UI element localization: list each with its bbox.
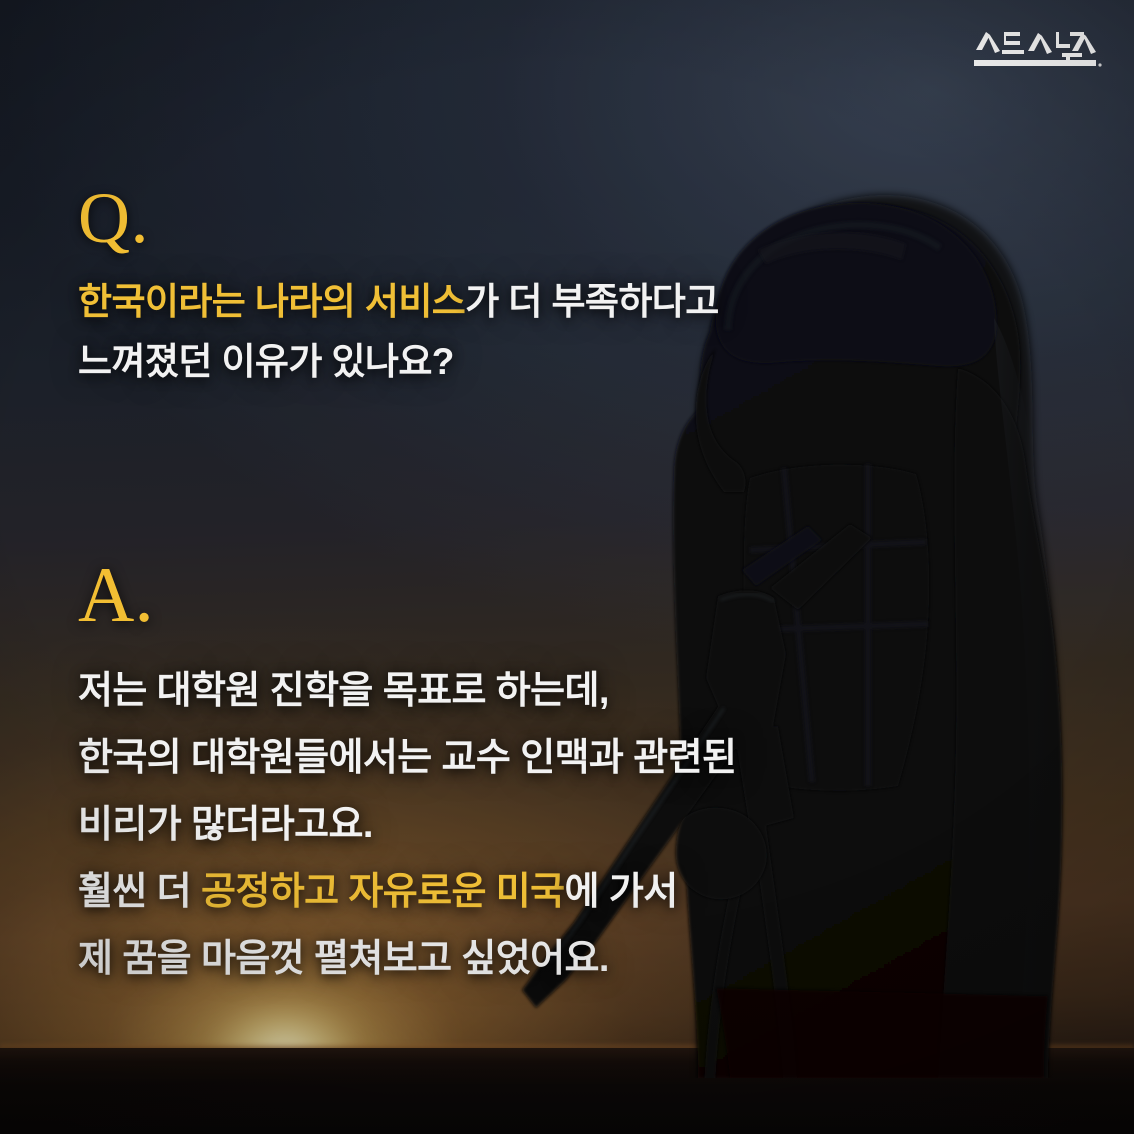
vignette-overlay	[0, 0, 1134, 1134]
news-card: Q. 한국이라는 나라의 서비스가 더 부족하다고 느껴졌던 이유가 있나요? …	[0, 0, 1134, 1134]
